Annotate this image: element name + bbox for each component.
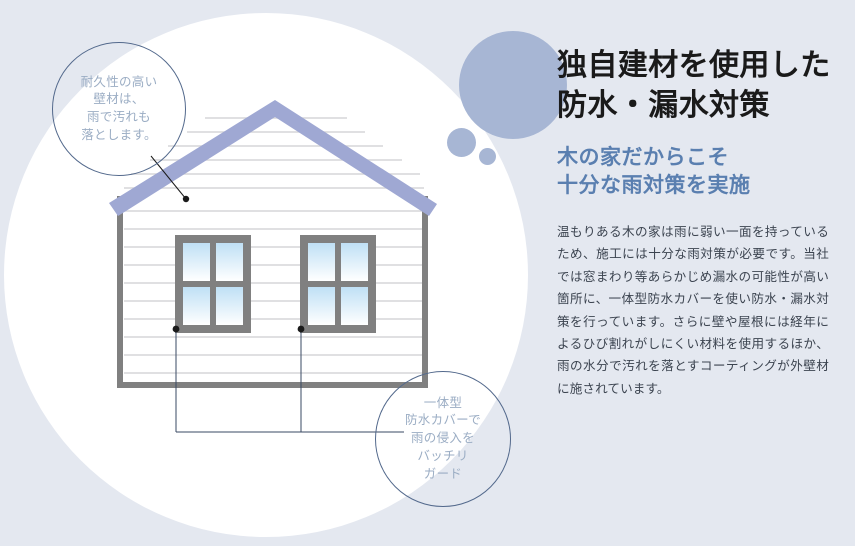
house-floor xyxy=(117,382,428,388)
callout-wall-durability[interactable]: 耐久性の高い 壁材は、 雨で汚れも 落とします。 xyxy=(52,42,186,176)
subhead-line: 十分な雨対策を実施 xyxy=(557,172,835,200)
callout-line: 防水カバーで xyxy=(405,412,481,430)
callout-line: 耐久性の高い xyxy=(81,74,158,92)
house-wall-left xyxy=(117,196,123,388)
callout-line: 雨の侵入を xyxy=(411,430,475,448)
headline-line: 防水・漏水対策 xyxy=(557,86,835,126)
subhead-line: 木の家だからこそ xyxy=(557,144,835,172)
headline-line: 独自建材を使用した xyxy=(557,46,835,86)
callout-line: 落とします。 xyxy=(81,127,157,145)
house-wall-right xyxy=(422,196,428,388)
callout-line: ガード xyxy=(424,466,462,484)
text-column: 独自建材を使用した 防水・漏水対策 木の家だからこそ 十分な雨対策を実施 温もり… xyxy=(557,0,855,546)
callout-line: 雨で汚れも xyxy=(87,109,151,127)
page-title: 独自建材を使用した 防水・漏水対策 xyxy=(557,46,835,126)
body-paragraph: 温もりある木の家は雨に弱い一面を持っているため、施工には十分な雨対策が必要です。… xyxy=(557,221,829,400)
window-right xyxy=(300,235,376,333)
page-subtitle: 木の家だからこそ 十分な雨対策を実施 xyxy=(557,144,835,200)
callout-waterproof-cover[interactable]: 一体型 防水カバーで 雨の侵入を バッチリ ガード xyxy=(375,371,511,507)
infographic-canvas: 耐久性の高い 壁材は、 雨で汚れも 落とします。 一体型 防水カバーで 雨の侵入… xyxy=(0,0,855,546)
callout-line: 壁材は、 xyxy=(93,91,144,109)
window-left xyxy=(175,235,251,333)
callout-line: 一体型 xyxy=(424,395,462,413)
callout-line: バッチリ xyxy=(417,448,468,466)
